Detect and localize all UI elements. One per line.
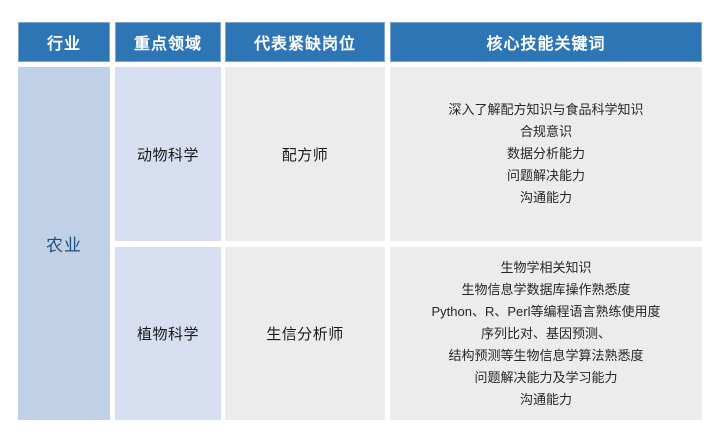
table-row-2-skills: 生物学相关知识 生物信息学数据库操作熟悉度 Python、R、Perl等编程语言… [390,247,702,420]
table-body: 农业 动物科学 配方师 深入了解配方知识与食品科学知识 合规意识 数据分析能力 … [18,67,702,420]
skills-table: 行业 重点领域 代表紧缺岗位 核心技能关键词 农业 动物科学 配方师 深入了解配… [18,22,702,420]
skill-item: 问题解决能力 [396,165,696,187]
table-row-1-position: 配方师 [225,67,385,241]
table-row-1-field: 动物科学 [115,67,221,241]
table-row-1-skills: 深入了解配方知识与食品科学知识 合规意识 数据分析能力 问题解决能力 沟通能力 [390,67,702,241]
column-header-skills[interactable]: 核心技能关键词 [390,22,702,62]
cell-industry-group: 农业 [18,67,110,420]
column-header-industry[interactable]: 行业 [18,22,110,62]
skill-item: 沟通能力 [396,389,696,411]
skill-item: 生物信息学数据库操作熟悉度 [396,279,696,301]
skill-item: 深入了解配方知识与食品科学知识 [396,99,696,121]
skill-item: 沟通能力 [396,187,696,209]
skill-item: 合规意识 [396,121,696,143]
skill-item: Python、R、Perl等编程语言熟练使用度 [396,301,696,323]
skill-list-row-2: 生物学相关知识 生物信息学数据库操作熟悉度 Python、R、Perl等编程语言… [396,257,696,411]
skill-list-row-1: 深入了解配方知识与食品科学知识 合规意识 数据分析能力 问题解决能力 沟通能力 [396,99,696,209]
column-header-field[interactable]: 重点领域 [115,22,221,62]
table-header-row: 行业 重点领域 代表紧缺岗位 核心技能关键词 [18,22,702,62]
skill-item: 生物学相关知识 [396,257,696,279]
skill-item: 问题解决能力及学习能力 [396,367,696,389]
table-row-2-field: 植物科学 [115,247,221,420]
skill-item: 结构预测等生物信息学算法熟悉度 [396,345,696,367]
table-row-2-position: 生信分析师 [225,247,385,420]
column-header-position[interactable]: 代表紧缺岗位 [225,22,385,62]
skill-item: 序列比对、基因预测、 [396,323,696,345]
skill-item: 数据分析能力 [396,143,696,165]
